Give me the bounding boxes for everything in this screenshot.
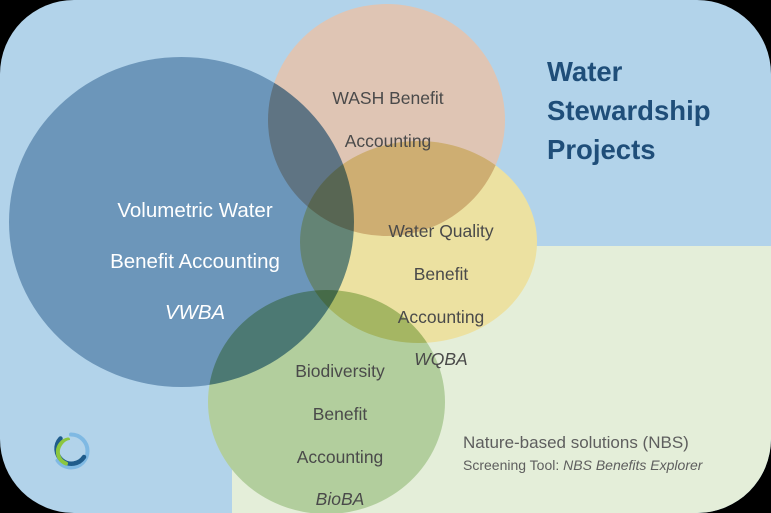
- label-bioba-acronym: BioBA: [250, 489, 430, 510]
- page-title: Water Stewardship Projects: [547, 52, 747, 169]
- label-vwba-line2: Benefit Accounting: [62, 249, 328, 274]
- label-wqba-line3: Accounting: [355, 307, 527, 328]
- label-wqba-line1: Water Quality: [355, 221, 527, 242]
- label-wash: WASH Benefit Accounting: [298, 67, 478, 174]
- label-bioba-line3: Accounting: [250, 447, 430, 468]
- diagram-card: Volumetric Water Benefit Accounting VWBA…: [0, 0, 771, 513]
- label-wqba-line2: Benefit: [355, 264, 527, 285]
- label-vwba-acronym: VWBA: [62, 300, 328, 325]
- nbs-screening: Screening Tool: NBS Benefits Explorer: [463, 456, 753, 475]
- label-wash-line1: WASH Benefit: [298, 88, 478, 109]
- nbs-title: Nature-based solutions (NBS): [463, 432, 753, 454]
- nbs-screening-label: Screening Tool:: [463, 457, 563, 473]
- nbs-screening-tool: NBS Benefits Explorer: [563, 457, 702, 473]
- label-bioba: Biodiversity Benefit Accounting BioBA: [250, 340, 430, 513]
- label-vwba-line1: Volumetric Water: [62, 198, 328, 223]
- label-bioba-line1: Biodiversity: [250, 361, 430, 382]
- swirl-logo: [50, 430, 92, 472]
- diagram-stage: Volumetric Water Benefit Accounting VWBA…: [0, 0, 771, 513]
- label-vwba: Volumetric Water Benefit Accounting VWBA: [62, 173, 328, 351]
- label-wash-line2: Accounting: [298, 131, 478, 152]
- label-bioba-line2: Benefit: [250, 404, 430, 425]
- nbs-caption: Nature-based solutions (NBS) Screening T…: [463, 432, 753, 475]
